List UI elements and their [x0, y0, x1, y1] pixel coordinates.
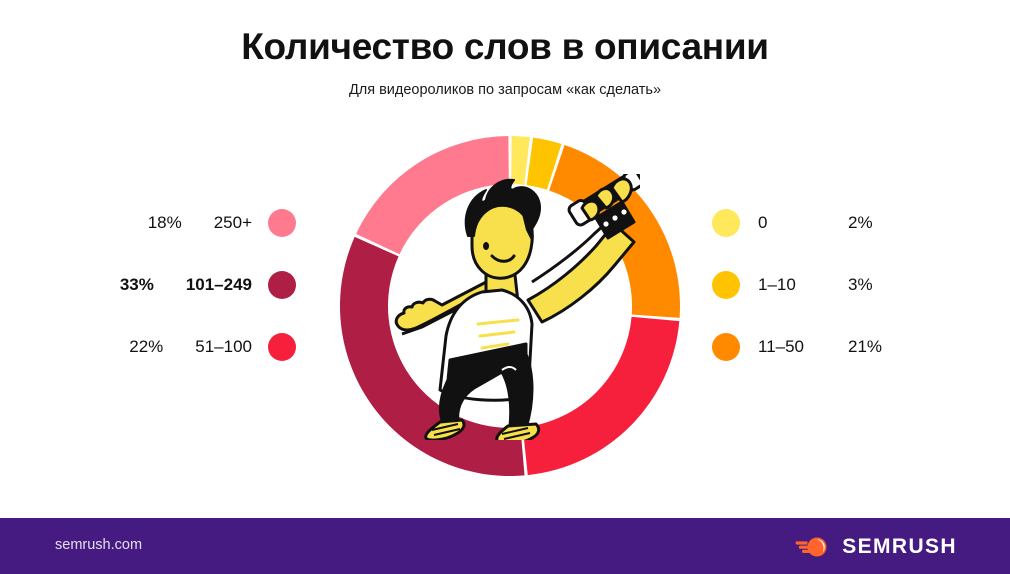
- legend-color-swatch: [268, 333, 296, 361]
- legend-item-value: 22%: [129, 337, 195, 357]
- legend-item-value: 33%: [120, 275, 186, 295]
- legend-item-value: 2%: [848, 213, 873, 233]
- page-subtitle: Для видеороликов по запросам «как сделат…: [0, 69, 1010, 98]
- footer-bar: semrush.com SEMRUSH: [0, 518, 1010, 574]
- legend-left: 18%250+33%101–24922%51–100: [104, 192, 296, 378]
- footer-site-link[interactable]: semrush.com: [55, 537, 142, 553]
- donut-chart: [338, 134, 682, 478]
- legend-color-swatch: [268, 209, 296, 237]
- chart-header: Количество слов в описании Для видеороли…: [0, 0, 1010, 98]
- legend-item-value: 21%: [848, 337, 882, 357]
- mascot-illustration: [382, 174, 640, 440]
- legend-item-value: 18%: [148, 213, 214, 233]
- legend-color-swatch: [712, 333, 740, 361]
- brand-logo: SEMRUSH: [794, 535, 957, 559]
- legend-color-swatch: [268, 271, 296, 299]
- legend-item: 02%: [712, 192, 912, 254]
- brand-wordmark: SEMRUSH: [842, 535, 957, 559]
- legend-color-swatch: [712, 271, 740, 299]
- legend-item-value: 3%: [848, 275, 873, 295]
- legend-item-label: 51–100: [195, 337, 268, 357]
- legend-item: 33%101–249: [104, 254, 296, 316]
- semrush-comet-icon: [794, 535, 830, 559]
- legend-color-swatch: [712, 209, 740, 237]
- legend-item-label: 101–249: [186, 275, 268, 295]
- legend-item-label: 0: [740, 213, 848, 233]
- legend-item-label: 250+: [214, 213, 268, 233]
- legend-item-label: 1–10: [740, 275, 848, 295]
- legend-right: 02%1–103%11–5021%: [712, 192, 912, 378]
- page-title: Количество слов в описании: [0, 0, 1010, 69]
- legend-item: 22%51–100: [104, 316, 296, 378]
- legend-item: 18%250+: [104, 192, 296, 254]
- legend-item: 11–5021%: [712, 316, 912, 378]
- legend-item-label: 11–50: [740, 337, 848, 357]
- legend-item: 1–103%: [712, 254, 912, 316]
